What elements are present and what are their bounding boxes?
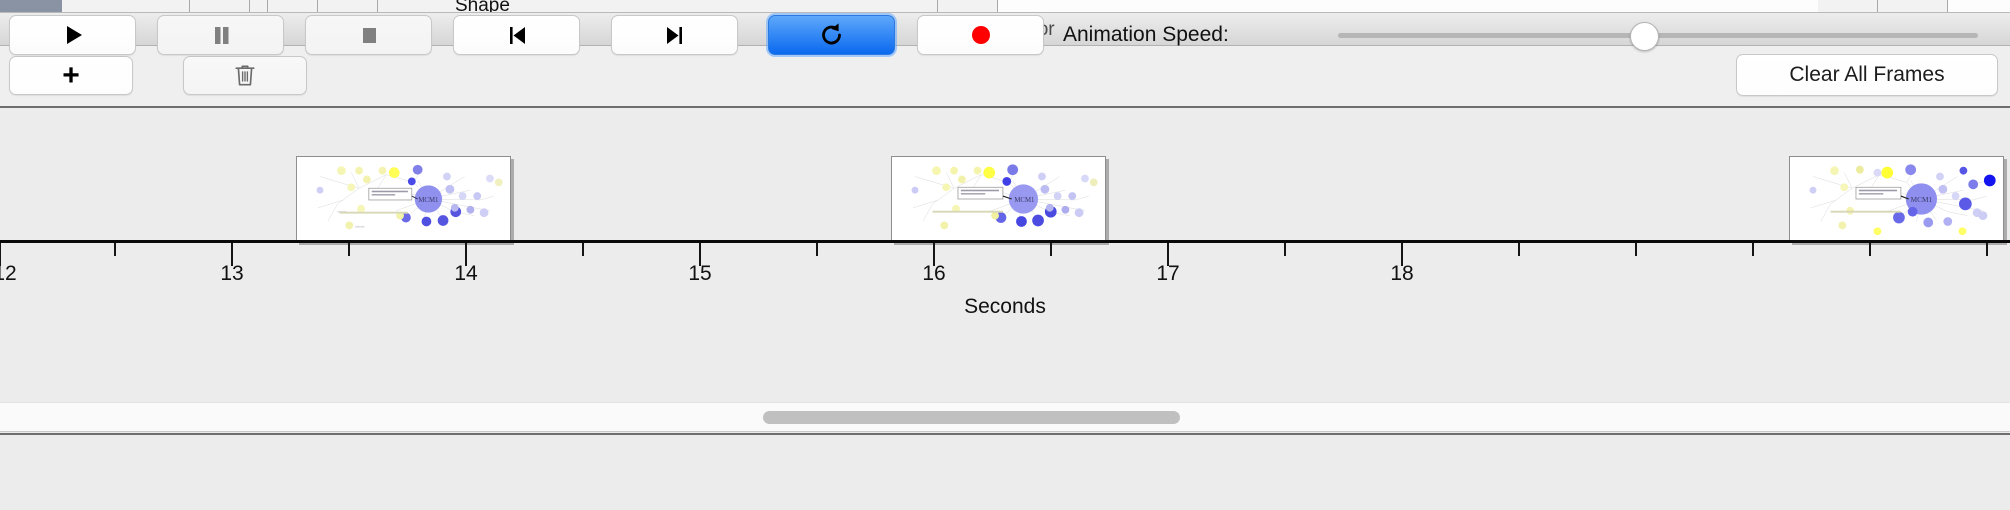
plus-icon: +: [62, 61, 80, 91]
axis-title: Seconds: [0, 295, 2010, 319]
pause-icon: [208, 22, 234, 48]
horizontal-scrollbar-thumb[interactable]: [763, 411, 1180, 424]
play-button[interactable]: [9, 15, 136, 55]
timeline-axis-line: [0, 240, 2010, 243]
background-tab: [268, 0, 318, 13]
trash-icon: [234, 63, 256, 89]
network-graph-preview: MCM1 proteins pathway: [297, 157, 510, 241]
axis-tick-label: 14: [454, 262, 477, 286]
skip-previous-icon: [504, 22, 530, 48]
skip-next-button[interactable]: [611, 15, 738, 55]
timeline-content: MCM1 proteins pathway: [0, 110, 2010, 402]
axis-tick-minor: [1518, 243, 1520, 256]
axis-tick-minor: [1869, 243, 1871, 256]
axis-tick-minor: [1986, 243, 1988, 256]
loop-button[interactable]: [768, 15, 895, 55]
network-graph-preview: MCM1: [1790, 157, 2003, 241]
svg-text:pathway: pathway: [355, 225, 365, 228]
axis-tick-minor: [348, 243, 350, 256]
frame-thumbnail-1[interactable]: MCM1 proteins pathway: [296, 156, 511, 242]
svg-text:MCM1: MCM1: [1014, 197, 1034, 204]
axis-tick-label: 17: [1156, 262, 1179, 286]
pause-button[interactable]: [157, 15, 284, 55]
axis-tick-label: 16: [922, 262, 945, 286]
axis-tick-label: 13: [220, 262, 243, 286]
axis-tick-label: 15: [688, 262, 711, 286]
svg-text:MCM1: MCM1: [1911, 195, 1933, 204]
axis-tick-minor: [1752, 243, 1754, 256]
svg-text:MCM1: MCM1: [418, 197, 438, 204]
skip-next-icon: [662, 22, 688, 48]
background-tab: [250, 0, 268, 13]
clear-all-frames-label: Clear All Frames: [1789, 63, 1944, 87]
background-tab: [1818, 0, 1878, 13]
frame-thumbnail-3[interactable]: MCM1: [1789, 156, 2004, 242]
record-icon: [968, 22, 994, 48]
cyanimator-window: Shape CyAnimator + Clear All Frames: [0, 0, 2010, 510]
axis-tick-minor: [816, 243, 818, 256]
loop-icon: [818, 21, 846, 49]
clear-all-frames-button[interactable]: Clear All Frames: [1736, 54, 1998, 96]
axis-tick-minor: [1050, 243, 1052, 256]
animation-speed-slider-thumb[interactable]: [1630, 22, 1659, 51]
background-window-strip: Shape: [0, 0, 2010, 13]
background-tab: [190, 0, 250, 13]
background-tab: [1878, 0, 1948, 13]
background-tab: [318, 0, 378, 13]
skip-previous-button[interactable]: [453, 15, 580, 55]
axis-tick-label: 12: [0, 262, 17, 286]
stop-button[interactable]: [305, 15, 432, 55]
delete-frame-button[interactable]: [183, 56, 307, 95]
background-tab: [938, 0, 998, 13]
stop-icon: [356, 22, 382, 48]
axis-tick-minor: [1635, 243, 1637, 256]
play-icon: [60, 22, 86, 48]
axis-tick-minor: [582, 243, 584, 256]
axis-tick-label: 18: [1390, 262, 1413, 286]
background-window-sidebar: [0, 0, 62, 13]
horizontal-scrollbar[interactable]: [0, 402, 2010, 432]
background-window-label: Shape: [455, 0, 510, 13]
frame-thumbnail-2[interactable]: MCM1: [891, 156, 1106, 242]
animation-speed-label: Animation Speed:: [1063, 15, 1229, 55]
network-graph-preview: MCM1: [892, 157, 1105, 241]
axis-tick-minor: [1284, 243, 1286, 256]
timeline-panel[interactable]: MCM1 proteins pathway: [0, 110, 2010, 402]
background-tab: [62, 0, 190, 13]
playback-control-bar: [0, 433, 2010, 510]
add-frame-button[interactable]: +: [9, 56, 133, 95]
axis-tick-minor: [114, 243, 116, 256]
record-button[interactable]: [917, 15, 1044, 55]
